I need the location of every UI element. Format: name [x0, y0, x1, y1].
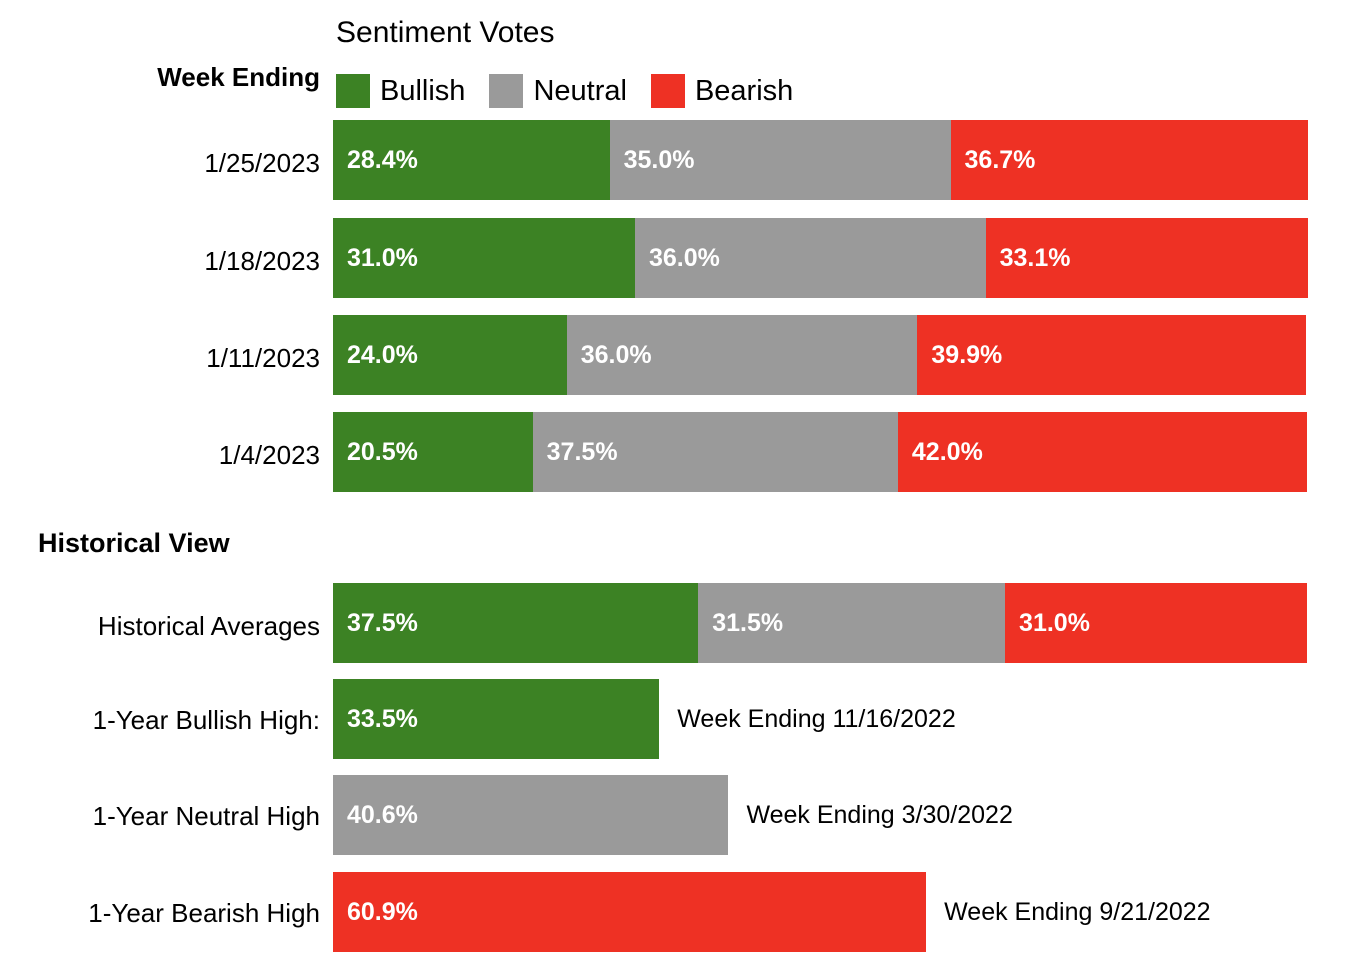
bar-segment-bullish[interactable]: 33.5% — [333, 679, 659, 759]
bar-value-neutral: 36.0% — [635, 246, 720, 271]
bar-segment-bullish[interactable]: 37.5% — [333, 583, 698, 663]
bar-value-bullish: 20.5% — [333, 440, 418, 465]
bar-segment-bullish[interactable]: 20.5% — [333, 412, 533, 492]
bar-segment-bearish[interactable]: 36.7% — [951, 120, 1308, 200]
row-note-bullish-high: Week Ending 11/16/2022 — [677, 707, 955, 732]
legend-swatch-bearish-icon — [651, 74, 685, 108]
row-label-bullish-high: 1-Year Bullish High: — [0, 707, 320, 733]
chart-title: Sentiment Votes — [336, 18, 554, 48]
bar-value-bearish: 31.0% — [1005, 611, 1090, 636]
bar-segment-bullish[interactable]: 24.0% — [333, 315, 567, 395]
bar-segment-bullish[interactable]: 31.0% — [333, 218, 635, 298]
bar-segment-bearish[interactable]: 33.1% — [986, 218, 1308, 298]
bar-segment-neutral[interactable]: 31.5% — [698, 583, 1005, 663]
bar-segment-neutral[interactable]: 35.0% — [610, 120, 951, 200]
bar-segment-neutral[interactable]: 40.6% — [333, 775, 728, 855]
legend-item-neutral[interactable]: Neutral — [489, 74, 651, 108]
bar-value-neutral: 35.0% — [610, 148, 695, 173]
row-label-neutral-high: 1-Year Neutral High — [0, 803, 320, 829]
stacked-bar-track: 28.4% 35.0% 36.7% — [333, 120, 1307, 200]
bar-value-neutral: 36.0% — [567, 343, 652, 368]
bar-segment-neutral[interactable]: 37.5% — [533, 412, 898, 492]
bar-value-neutral: 40.6% — [333, 803, 418, 828]
bar-value-bullish: 31.0% — [333, 246, 418, 271]
bar-value-bearish: 60.9% — [333, 900, 418, 925]
bar-segment-neutral[interactable]: 36.0% — [567, 315, 918, 395]
bar-segment-bearish[interactable]: 39.9% — [917, 315, 1306, 395]
row-label-week: 1/11/2023 — [0, 345, 320, 371]
stacked-bar-track: 24.0% 36.0% 39.9% — [333, 315, 1307, 395]
chart-legend: Bullish Neutral Bearish — [336, 74, 817, 108]
row-label-week: 1/4/2023 — [0, 442, 320, 468]
bar-segment-neutral[interactable]: 36.0% — [635, 218, 986, 298]
legend-label-neutral: Neutral — [533, 77, 627, 106]
stacked-bar-track: 31.0% 36.0% 33.1% — [333, 218, 1307, 298]
row-label-bearish-high: 1-Year Bearish High — [0, 900, 320, 926]
historical-view-title: Historical View — [38, 530, 230, 557]
legend-item-bullish[interactable]: Bullish — [336, 74, 489, 108]
legend-label-bearish: Bearish — [695, 77, 793, 106]
bar-value-bullish: 24.0% — [333, 343, 418, 368]
legend-item-bearish[interactable]: Bearish — [651, 74, 817, 108]
bar-value-bullish: 37.5% — [333, 611, 418, 636]
bar-value-bearish: 36.7% — [951, 148, 1036, 173]
legend-swatch-neutral-icon — [489, 74, 523, 108]
bar-value-bearish: 39.9% — [917, 343, 1002, 368]
bar-value-bearish: 33.1% — [986, 246, 1071, 271]
bar-segment-bearish[interactable]: 31.0% — [1005, 583, 1307, 663]
bar-value-bearish: 42.0% — [898, 440, 983, 465]
stacked-bar-track: 37.5% 31.5% 31.0% — [333, 583, 1307, 663]
row-label-week: 1/25/2023 — [0, 150, 320, 176]
row-note-neutral-high: Week Ending 3/30/2022 — [746, 803, 1012, 828]
bar-segment-bearish[interactable]: 42.0% — [898, 412, 1307, 492]
bar-value-neutral: 37.5% — [533, 440, 618, 465]
bar-value-neutral: 31.5% — [698, 611, 783, 636]
row-label-week: 1/18/2023 — [0, 248, 320, 274]
stacked-bar-track: 20.5% 37.5% 42.0% — [333, 412, 1307, 492]
sentiment-survey-chart: Week Ending Sentiment Votes Bullish Neut… — [0, 0, 1350, 974]
bar-value-bullish: 28.4% — [333, 148, 418, 173]
bar-segment-bearish[interactable]: 60.9% — [333, 872, 926, 952]
row-note-bearish-high: Week Ending 9/21/2022 — [944, 900, 1210, 925]
bar-segment-bullish[interactable]: 28.4% — [333, 120, 610, 200]
legend-label-bullish: Bullish — [380, 77, 465, 106]
bar-value-bullish: 33.5% — [333, 707, 418, 732]
legend-swatch-bullish-icon — [336, 74, 370, 108]
row-label-historical-averages: Historical Averages — [0, 613, 320, 639]
week-ending-header: Week Ending — [0, 64, 320, 90]
